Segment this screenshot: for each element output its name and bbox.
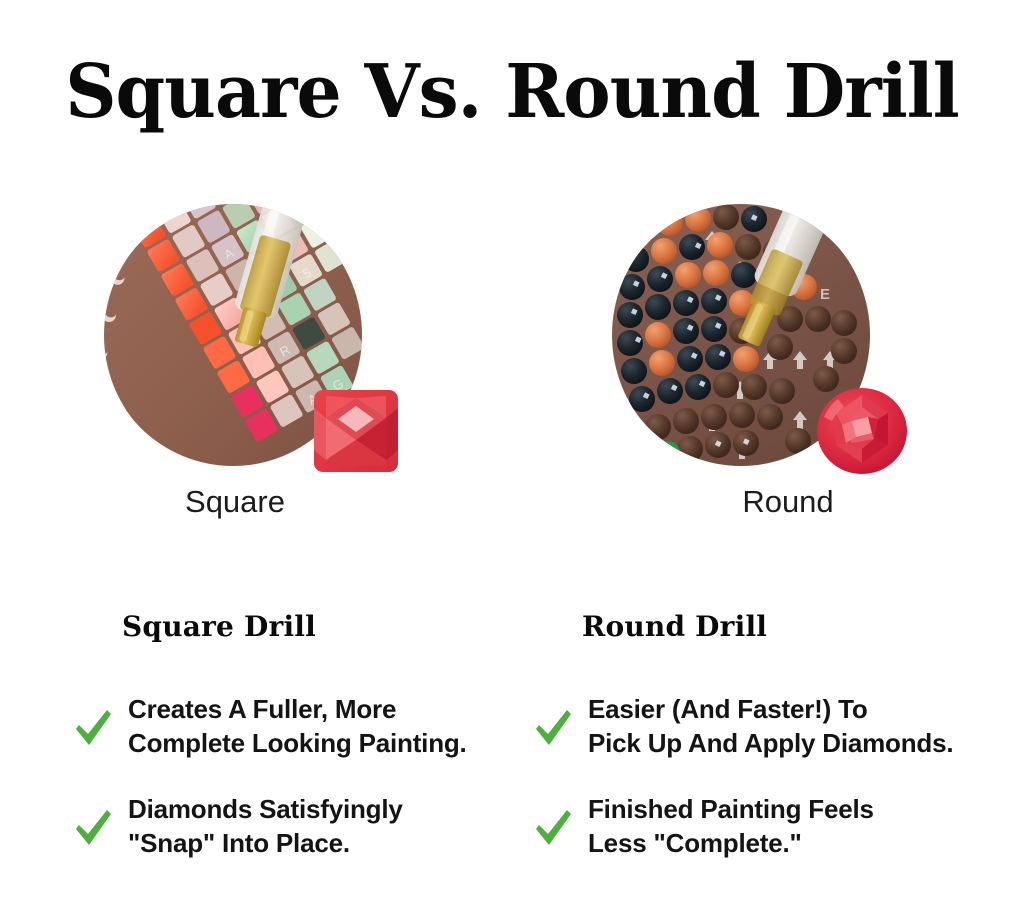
square-benefit-1: Creates A Fuller, More Complete Looking … bbox=[74, 692, 467, 760]
round-benefit-1: Easier (And Faster!) To Pick Up And Appl… bbox=[534, 692, 953, 760]
check-icon bbox=[534, 707, 574, 749]
square-benefit-2-text: Diamonds Satisfyingly "Snap" Into Place. bbox=[128, 792, 403, 860]
check-icon bbox=[74, 807, 114, 849]
round-photo-block: E F bbox=[608, 195, 908, 485]
round-benefit-2-text: Finished Painting Feels Less "Complete." bbox=[588, 792, 874, 860]
round-benefit-1-text: Easier (And Faster!) To Pick Up And Appl… bbox=[588, 692, 953, 760]
round-photo-caption: Round bbox=[578, 483, 998, 521]
square-red-gem bbox=[312, 388, 400, 474]
square-benefit-2: Diamonds Satisfyingly "Snap" Into Place. bbox=[74, 792, 403, 860]
check-icon bbox=[74, 707, 114, 749]
round-benefit-2: Finished Painting Feels Less "Complete." bbox=[534, 792, 874, 860]
round-drill-heading: Round Drill bbox=[582, 610, 767, 644]
round-red-gem bbox=[816, 387, 904, 473]
square-photo-block: A G R A 5 5 G bbox=[100, 195, 400, 485]
check-icon bbox=[534, 807, 574, 849]
page-title: Square Vs. Round Drill bbox=[20, 50, 1003, 134]
square-benefit-1-text: Creates A Fuller, More Complete Looking … bbox=[128, 692, 467, 760]
svg-text:E: E bbox=[820, 286, 830, 303]
square-photo-caption: Square bbox=[25, 483, 445, 521]
square-drill-heading: Square Drill bbox=[122, 610, 316, 644]
